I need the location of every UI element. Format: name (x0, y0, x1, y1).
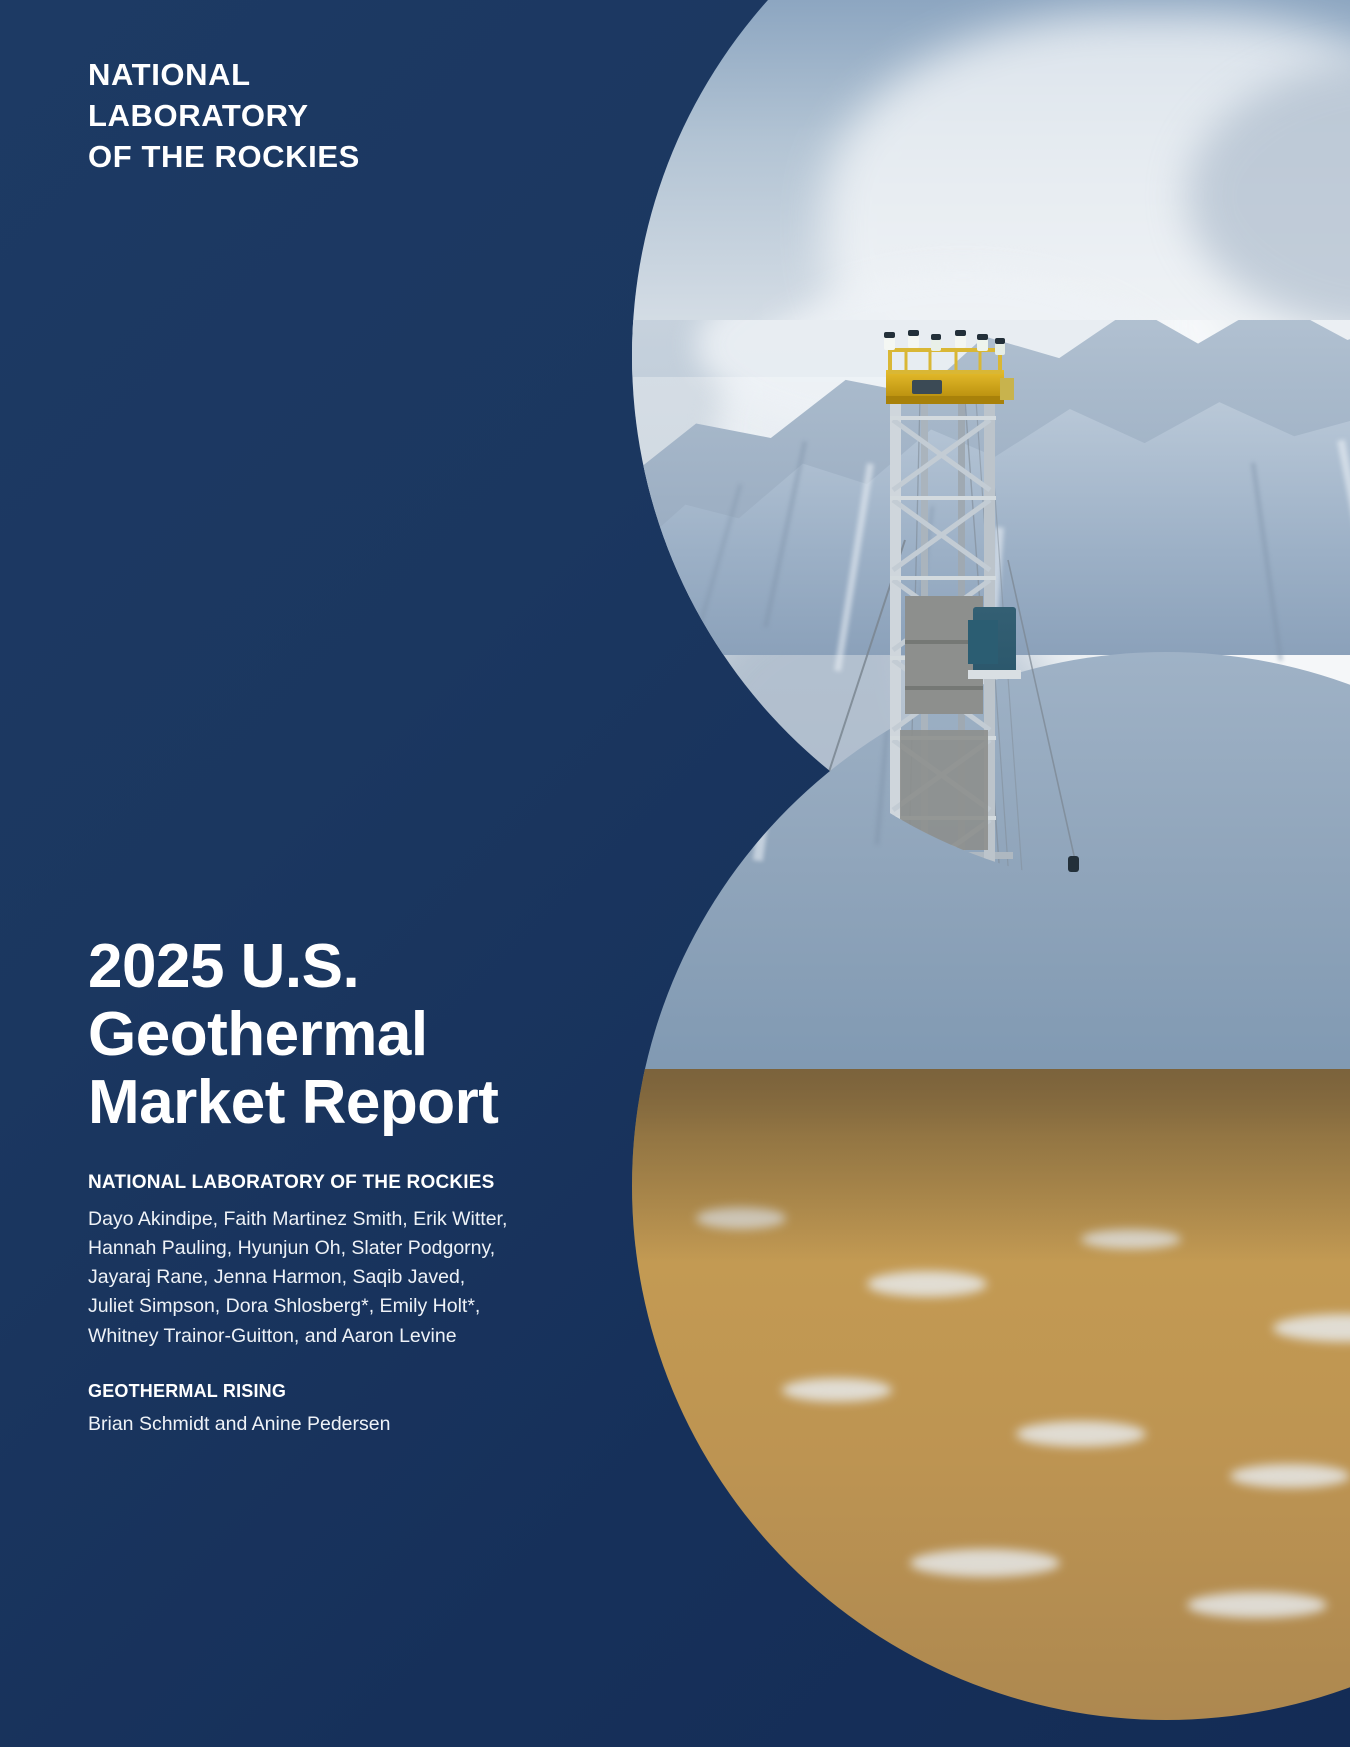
author-list-1: Dayo Akindipe, Faith Martinez Smith, Eri… (88, 1205, 648, 1351)
snow-patch (1230, 1464, 1350, 1488)
organization-2: GEOTHERMAL RISING (88, 1381, 648, 1402)
author-line: Hannah Pauling, Hyunjun Oh, Slater Podgo… (88, 1234, 648, 1263)
lab-logo: NATIONAL LABORATORY OF THE ROCKIES (88, 55, 360, 178)
author-line: Jayaraj Rane, Jenna Harmon, Saqib Javed, (88, 1263, 648, 1292)
organization-1: NATIONAL LABORATORY OF THE ROCKIES (88, 1172, 648, 1194)
title-block: 2025 U.S. Geothermal Market Report NATIO… (88, 933, 648, 1436)
author-list-2: Brian Schmidt and Anine Pedersen (88, 1413, 648, 1436)
page-title: 2025 U.S. Geothermal Market Report (88, 933, 648, 1138)
logo-line-3: OF THE ROCKIES (88, 137, 360, 178)
author-line: Dayo Akindipe, Faith Martinez Smith, Eri… (88, 1205, 648, 1234)
snow-patch (1016, 1421, 1146, 1447)
mountain-base (632, 652, 1350, 1079)
title-line-2: Geothermal (88, 1001, 648, 1069)
photo-scene-ground (632, 652, 1350, 1720)
logo-line-2: LABORATORY (88, 96, 360, 137)
title-line-3: Market Report (88, 1069, 648, 1137)
snow-patch (782, 1378, 892, 1402)
grass-haze (632, 1069, 1350, 1261)
snow-patch (1187, 1592, 1327, 1618)
author-line: Juliet Simpson, Dora Shlosberg*, Emily H… (88, 1292, 648, 1321)
cover-photo-disc-lower (632, 652, 1350, 1720)
logo-line-1: NATIONAL (88, 55, 360, 96)
title-line-1: 2025 U.S. (88, 933, 648, 1001)
snow-patch (910, 1549, 1060, 1577)
author-line: Whitney Trainor-Guitton, and Aaron Levin… (88, 1322, 648, 1351)
report-cover: БР FlexRig 492 (0, 0, 1350, 1747)
